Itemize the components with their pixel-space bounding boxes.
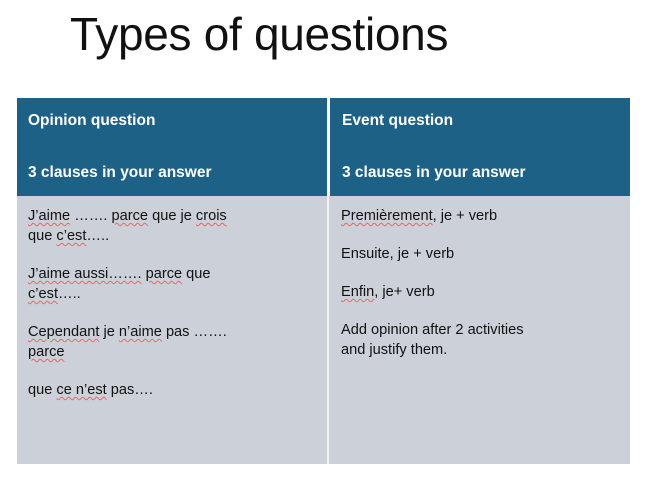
text-run: and justify them.	[341, 342, 447, 358]
header-subtitle-opinion-question: 3 clauses in your answer	[28, 164, 327, 182]
spellcheck-underlined-text: crois	[196, 208, 227, 224]
table-header-row: Opinion question 3 clauses in your answe…	[17, 98, 630, 196]
text-paragraph: que ce n’est pas….	[28, 380, 319, 400]
text-line: and justify them.	[341, 340, 622, 360]
text-paragraph: Premièrement, je + verb	[341, 206, 622, 226]
header-spacer	[342, 130, 630, 164]
text-run: …..	[58, 286, 81, 302]
text-line: Enfin, je+ verb	[341, 282, 622, 302]
header-title-opinion-question: Opinion question	[28, 112, 327, 130]
text-run: pas …….	[162, 324, 227, 340]
text-run: que	[182, 266, 210, 282]
text-run: , je+ verb	[374, 284, 434, 300]
spellcheck-underlined-text: c’est	[56, 228, 86, 244]
text-line: parce	[28, 342, 319, 362]
text-run: je	[99, 324, 118, 340]
spellcheck-underlined-text: J’aime	[28, 208, 70, 224]
spellcheck-underlined-text: parce	[146, 266, 183, 282]
table-body-row: J’aime ……. parce que je croisque c’est….…	[17, 196, 630, 464]
text-paragraph: Cependant je n’aime pas …….parce	[28, 322, 319, 362]
spellcheck-underlined-text: Premièrement	[341, 208, 433, 224]
header-spacer	[28, 130, 327, 164]
text-line: Cependant je n’aime pas …….	[28, 322, 319, 342]
spellcheck-underlined-text: Enfin	[341, 284, 374, 300]
spellcheck-underlined-text: J’aime aussi…….	[28, 266, 142, 282]
text-run: …..	[86, 228, 109, 244]
body-cell-event-question: Premièrement, je + verbEnsuite, je + ver…	[327, 196, 630, 464]
header-subtitle-event-question: 3 clauses in your answer	[342, 164, 630, 182]
text-run: …….	[70, 208, 111, 224]
spellcheck-underlined-text: parce	[112, 208, 149, 224]
body-cell-opinion-question: J’aime ……. parce que je croisque c’est….…	[17, 196, 327, 464]
spellcheck-underlined-text: Cependant	[28, 324, 99, 340]
text-run: que je	[148, 208, 196, 224]
text-line: Add opinion after 2 activities	[341, 320, 622, 340]
text-run: que	[28, 228, 56, 244]
header-cell-opinion-question: Opinion question 3 clauses in your answe…	[17, 98, 327, 196]
text-paragraph: Enfin, je+ verb	[341, 282, 622, 302]
spellcheck-underlined-text: parce	[28, 344, 65, 360]
text-paragraph: Ensuite, je + verb	[341, 244, 622, 264]
text-line: c’est…..	[28, 284, 319, 304]
text-paragraph: Add opinion after 2 activitiesand justif…	[341, 320, 622, 360]
text-line: que ce n’est pas….	[28, 380, 319, 400]
comparison-table: Opinion question 3 clauses in your answe…	[17, 98, 630, 464]
text-run: , je + verb	[433, 208, 498, 224]
text-run: Ensuite, je + verb	[341, 246, 454, 262]
text-line: Premièrement, je + verb	[341, 206, 622, 226]
text-paragraph: J’aime aussi……. parce quec’est…..	[28, 264, 319, 304]
spellcheck-underlined-text: ce n’est	[56, 382, 106, 398]
page-title: Types of questions	[70, 4, 448, 64]
header-cell-event-question: Event question 3 clauses in your answer	[327, 98, 630, 196]
text-run: Add opinion after 2 activities	[341, 322, 524, 338]
text-run: pas….	[107, 382, 153, 398]
spellcheck-underlined-text: c’est	[28, 286, 58, 302]
header-title-event-question: Event question	[342, 112, 630, 130]
spellcheck-underlined-text: n’aime	[119, 324, 162, 340]
text-line: Ensuite, je + verb	[341, 244, 622, 264]
text-run: que	[28, 382, 56, 398]
text-paragraph: J’aime ……. parce que je croisque c’est….…	[28, 206, 319, 246]
text-line: J’aime aussi……. parce que	[28, 264, 319, 284]
text-line: que c’est…..	[28, 226, 319, 246]
text-line: J’aime ……. parce que je crois	[28, 206, 319, 226]
